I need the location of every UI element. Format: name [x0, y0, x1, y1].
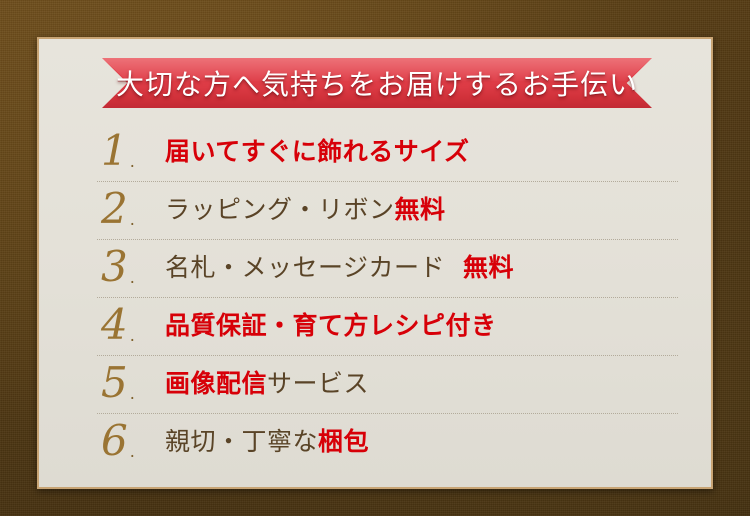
benefit-number-value: 4 — [101, 300, 128, 349]
benefit-number: 4. — [97, 304, 165, 346]
benefit-number-dot: . — [130, 384, 135, 403]
benefit-text: 画像配信サービス — [165, 370, 678, 398]
benefit-text: 親切・丁寧な梱包 — [165, 428, 678, 456]
benefit-text-normal: ラッピング・リボン — [165, 195, 395, 224]
benefit-number-value: 3 — [101, 242, 128, 291]
benefit-number-value: 6 — [101, 416, 128, 465]
benefit-text-normal: サービス — [267, 369, 369, 398]
benefit-row: 2.ラッピング・リボン無料 — [97, 182, 678, 240]
benefit-row: 1.届いてすぐに飾れるサイズ — [97, 124, 678, 182]
benefit-text-highlight: 品質保証・育て方レシピ付き — [165, 311, 497, 340]
benefit-row: 4.品質保証・育て方レシピ付き — [97, 298, 678, 356]
benefit-number-value: 1 — [101, 126, 128, 175]
benefit-text-normal: 親切・丁寧な — [165, 427, 318, 456]
benefit-number: 1. — [97, 130, 165, 172]
benefit-text-highlight: 届いてすぐに飾れるサイズ — [165, 137, 470, 166]
benefit-text-highlight: 無料 — [463, 253, 514, 282]
benefit-number-dot: . — [130, 152, 135, 171]
benefit-number: 5. — [97, 362, 165, 404]
benefit-number-value: 5 — [101, 358, 128, 407]
benefit-number-dot: . — [130, 442, 135, 461]
benefit-text: 届いてすぐに飾れるサイズ — [165, 138, 678, 166]
benefit-row: 6.親切・丁寧な梱包 — [97, 414, 678, 471]
benefit-text: 名札・メッセージカード無料 — [165, 254, 678, 282]
benefits-list: 1.届いてすぐに飾れるサイズ2.ラッピング・リボン無料3.名札・メッセージカード… — [39, 124, 711, 471]
benefit-number: 3. — [97, 246, 165, 288]
benefit-number: 2. — [97, 188, 165, 230]
benefit-row: 5.画像配信サービス — [97, 356, 678, 414]
promo-banner-root: 大切な方へ気持ちをお届けするお手伝い 1.届いてすぐに飾れるサイズ2.ラッピング… — [0, 0, 750, 516]
benefit-number-dot: . — [130, 326, 135, 345]
benefit-text-highlight: 画像配信 — [165, 369, 267, 398]
benefit-number-dot: . — [130, 210, 135, 229]
benefit-text-highlight: 無料 — [395, 195, 446, 224]
benefit-text: 品質保証・育て方レシピ付き — [165, 312, 678, 340]
benefit-text-normal: 名札・メッセージカード — [165, 253, 445, 282]
benefit-number-dot: . — [130, 268, 135, 287]
benefit-number: 6. — [97, 420, 165, 462]
benefit-row: 3.名札・メッセージカード無料 — [97, 240, 678, 298]
ribbon-banner: 大切な方へ気持ちをお届けするお手伝い — [102, 58, 652, 108]
benefit-number-value: 2 — [101, 184, 128, 233]
benefit-text-highlight: 梱包 — [318, 427, 369, 456]
ribbon-title: 大切な方へ気持ちをお届けするお手伝い — [102, 58, 652, 108]
content-panel: 大切な方へ気持ちをお届けするお手伝い 1.届いてすぐに飾れるサイズ2.ラッピング… — [37, 37, 713, 489]
benefit-text: ラッピング・リボン無料 — [165, 196, 678, 224]
